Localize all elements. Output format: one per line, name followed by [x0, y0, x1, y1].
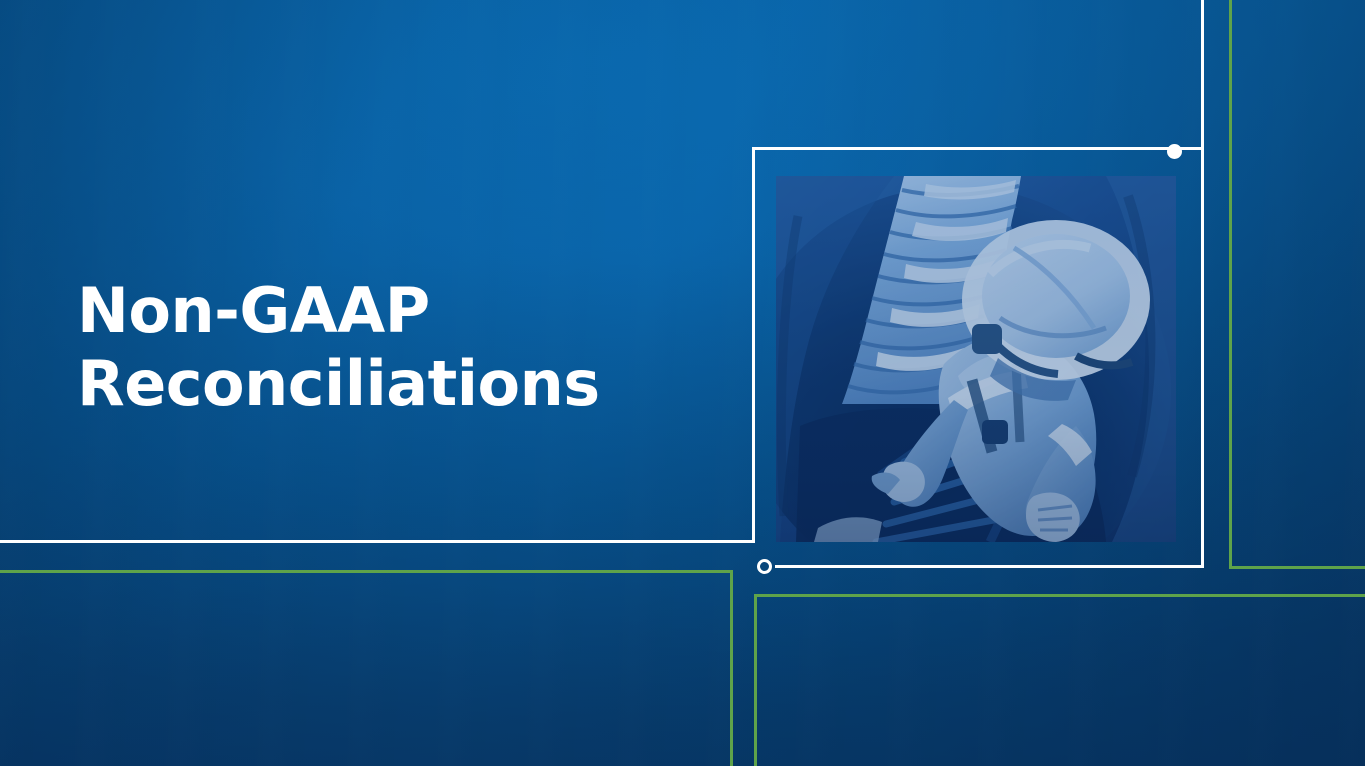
green-vertical-rule-center — [754, 594, 757, 766]
ring-dot-icon — [757, 559, 772, 574]
green-horizontal-rule-left — [0, 570, 733, 573]
slide-canvas: Non-GAAP Reconciliations — [0, 0, 1365, 766]
hero-photo — [776, 176, 1176, 542]
green-vertical-rule-left — [730, 570, 733, 766]
white-photo-frame-right — [1201, 0, 1204, 568]
hero-photo-illustration — [776, 176, 1176, 542]
green-vertical-rule-right — [1229, 0, 1232, 568]
white-photo-frame-left — [752, 147, 755, 543]
green-horizontal-rule-right — [1229, 566, 1365, 569]
white-photo-frame-top — [752, 147, 1204, 150]
green-horizontal-rule-center — [754, 594, 1365, 597]
white-horizontal-rule-right — [775, 565, 1204, 568]
filled-dot-icon — [1167, 144, 1182, 159]
white-horizontal-rule-left — [0, 540, 752, 543]
slide-title: Non-GAAP Reconciliations — [77, 274, 697, 420]
